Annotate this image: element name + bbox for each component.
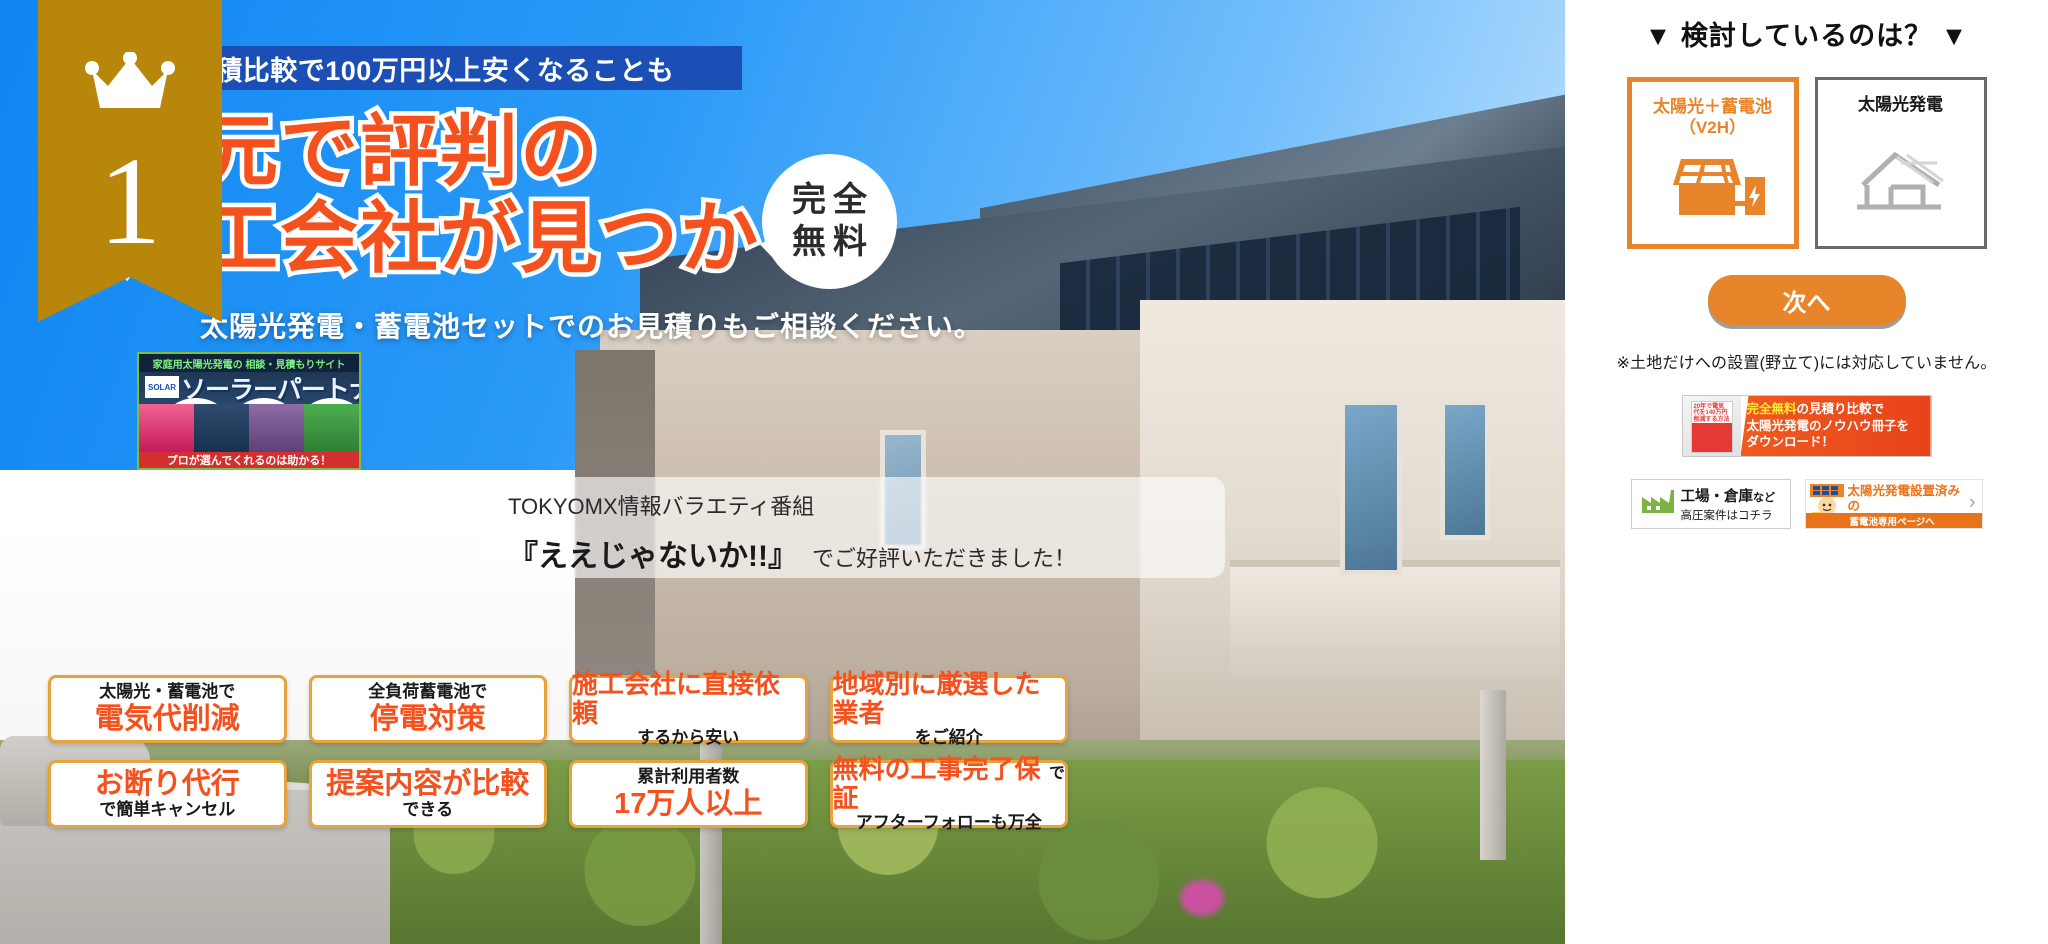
free-badge-line-2: 無料 [785,223,874,262]
rank-number: 1 [99,140,162,265]
crown-icon [82,52,178,119]
tv-thumb-bottom-strip: プロが選んでくれるのは助かる！ [139,452,359,468]
benefit-card: 累計利用者数 17万人以上 [569,760,808,828]
free-badge: 完全 無料 [762,154,897,289]
benefit-card: 全負荷蓄電池で 停電対策 [309,675,548,743]
benefit-card-big: 17万人以上 [614,788,762,820]
benefit-card-big: 地域別に厳選した業者 [833,670,1066,728]
choice-group: 太陽光＋蓄電池 （V2H） [1565,77,2048,249]
benefit-card-big: 施工会社に直接依頼 [572,670,805,728]
benefit-card-big: 無料の工事完了保証 [833,755,1049,813]
existing-solar-strip: 蓄電池専用ページへ [1806,513,1982,528]
factory-warehouse-banner[interactable]: 工場・倉庫など 高圧案件はコチラ [1631,479,1791,529]
hero-headline: 地元で評判の 施工会社が見つかる [120,108,840,283]
headline-line-2: 施工会社が見つかる [120,195,840,282]
rank-ribbon: 1 [38,0,222,322]
chevron-right-icon: › [1969,492,1975,514]
tv-program-suffix: でご好評いただきました！ [812,541,1076,573]
hero-subheadline: 太陽光発電・蓄電池セットでのお見積りもご相談ください。 [200,305,983,345]
factory-banner-title-suffix: など [1753,492,1775,504]
existing-solar-line-1: 太陽光発電設置済みの [1848,484,1961,513]
factory-banner-sub: 高圧案件はコチラ [1681,510,1773,522]
benefit-card-big: 提案内容が比較 [326,768,529,800]
benefit-card: お断り代行 で簡単キャンセル [48,760,287,828]
free-badge-line-1: 完全 [785,181,874,220]
right-panel: ▼ 検討しているのは？ ▼ 太陽光＋蓄電池 （V2H） [1565,0,2048,944]
hero-banner-text: 見積比較で100万円以上安くなることも [188,49,675,88]
benefit-card-small: 全負荷蓄電池で [368,683,487,702]
solar-house-icon [1847,125,1955,222]
benefit-card-small: できる [402,801,453,820]
benefit-card-small: アフターフォローも万全 [856,814,1042,833]
benefit-card: 無料の工事完了保証 で アフターフォローも万全 [830,760,1069,828]
benefit-cards: 太陽光・蓄電池で 電気代削減 全負荷蓄電池で 停電対策 施工会社に直接依頼 する… [48,675,1068,845]
choice-label-line-1: 太陽光＋蓄電池 [1653,96,1772,117]
benefit-card-small: 太陽光・蓄電池で [99,683,235,702]
hero-section: 1 見積比較で100万円以上安くなることも 地元で評判の 施工会社が見つかる 完… [0,0,1565,944]
mini-banner-row: 工場・倉庫など 高圧案件はコチラ [1565,479,2048,529]
installation-note: ※土地だけへの設置(野立て)には対応していません。 [1565,349,2048,373]
solar-partners-logo: SOLAR [145,376,179,398]
benefit-cards-row-2: お断り代行 で簡単キャンセル 提案内容が比較 できる 累計利用者数 17万人以上… [48,760,1068,828]
benefit-card-small: 累計利用者数 [637,768,739,787]
tv-program-prefix: TOKYOMX情報バラエティ番組 [508,489,1197,521]
choice-solar-only[interactable]: 太陽光発電 [1815,77,1987,249]
ebook-cover-text: 20年で電気代を140万円削減する方法 [1692,402,1732,423]
benefit-card-big: 電気代削減 [95,703,240,735]
ebook-banner-line-2: 太陽光発電のノウハウ冊子を [1747,418,1925,435]
ebook-cover-image: 20年で電気代を140万円削減する方法 [1683,396,1741,456]
ebook-download-banner[interactable]: 20年で電気代を140万円削減する方法 完全無料の見積り比較で 太陽光発電のノウ… [1682,395,1932,457]
tv-thumb-people [139,404,359,454]
benefit-card: 提案内容が比較 できる [309,760,548,828]
ebook-banner-emphasis: 完全無料 [1747,402,1797,416]
choice-solar-plus-battery[interactable]: 太陽光＋蓄電池 （V2H） [1627,77,1799,249]
page-root: 1 見積比較で100万円以上安くなることも 地元で評判の 施工会社が見つかる 完… [0,0,2048,944]
benefit-card-small: で簡単キャンセル [99,801,235,820]
factory-banner-title: 工場・倉庫 [1681,489,1754,505]
ebook-banner-line-3: ダウンロード！ [1747,434,1925,451]
factory-icon [1640,489,1674,520]
tv-program-name: 『ええじゃないか!!』 [508,531,798,575]
tv-thumbnail[interactable]: 家庭用太陽光発電の 相談・見積もりサイト SOLAR ソーラーパートナーズ 無 … [137,352,361,470]
choice-label-line-1: 太陽光発電 [1858,94,1943,115]
ebook-banner-line-1-rest: の見積り比較で [1797,402,1885,416]
tv-program-panel: TOKYOMX情報バラエティ番組 『ええじゃないか!!』 でご好評いただきました… [480,477,1225,578]
headline-line-1: 地元で評判の [120,108,840,195]
existing-solar-banner[interactable]: 太陽光発電設置済みの 方はこちら 蓄電池専用ページへ › [1805,479,1983,529]
benefit-card-big-suffix: で [1049,759,1065,783]
benefit-card: 太陽光・蓄電池で 電気代削減 [48,675,287,743]
choice-label-line-2: （V2H） [1653,117,1772,138]
benefit-card-small: するから安い [637,729,739,748]
panel-title: ▼ 検討しているのは？ ▼ [1565,14,2048,53]
next-button[interactable]: 次へ [1708,275,1906,325]
benefit-card: 施工会社に直接依頼 するから安い [569,675,808,743]
solar-battery-icon [1659,149,1767,228]
benefit-card: 地域別に厳選した業者 をご紹介 [830,675,1069,743]
benefit-card-small: をご紹介 [915,729,983,748]
benefit-cards-row-1: 太陽光・蓄電池で 電気代削減 全負荷蓄電池で 停電対策 施工会社に直接依頼 する… [48,675,1068,743]
benefit-card-big: お断り代行 [95,768,240,800]
benefit-card-big: 停電対策 [370,703,486,735]
